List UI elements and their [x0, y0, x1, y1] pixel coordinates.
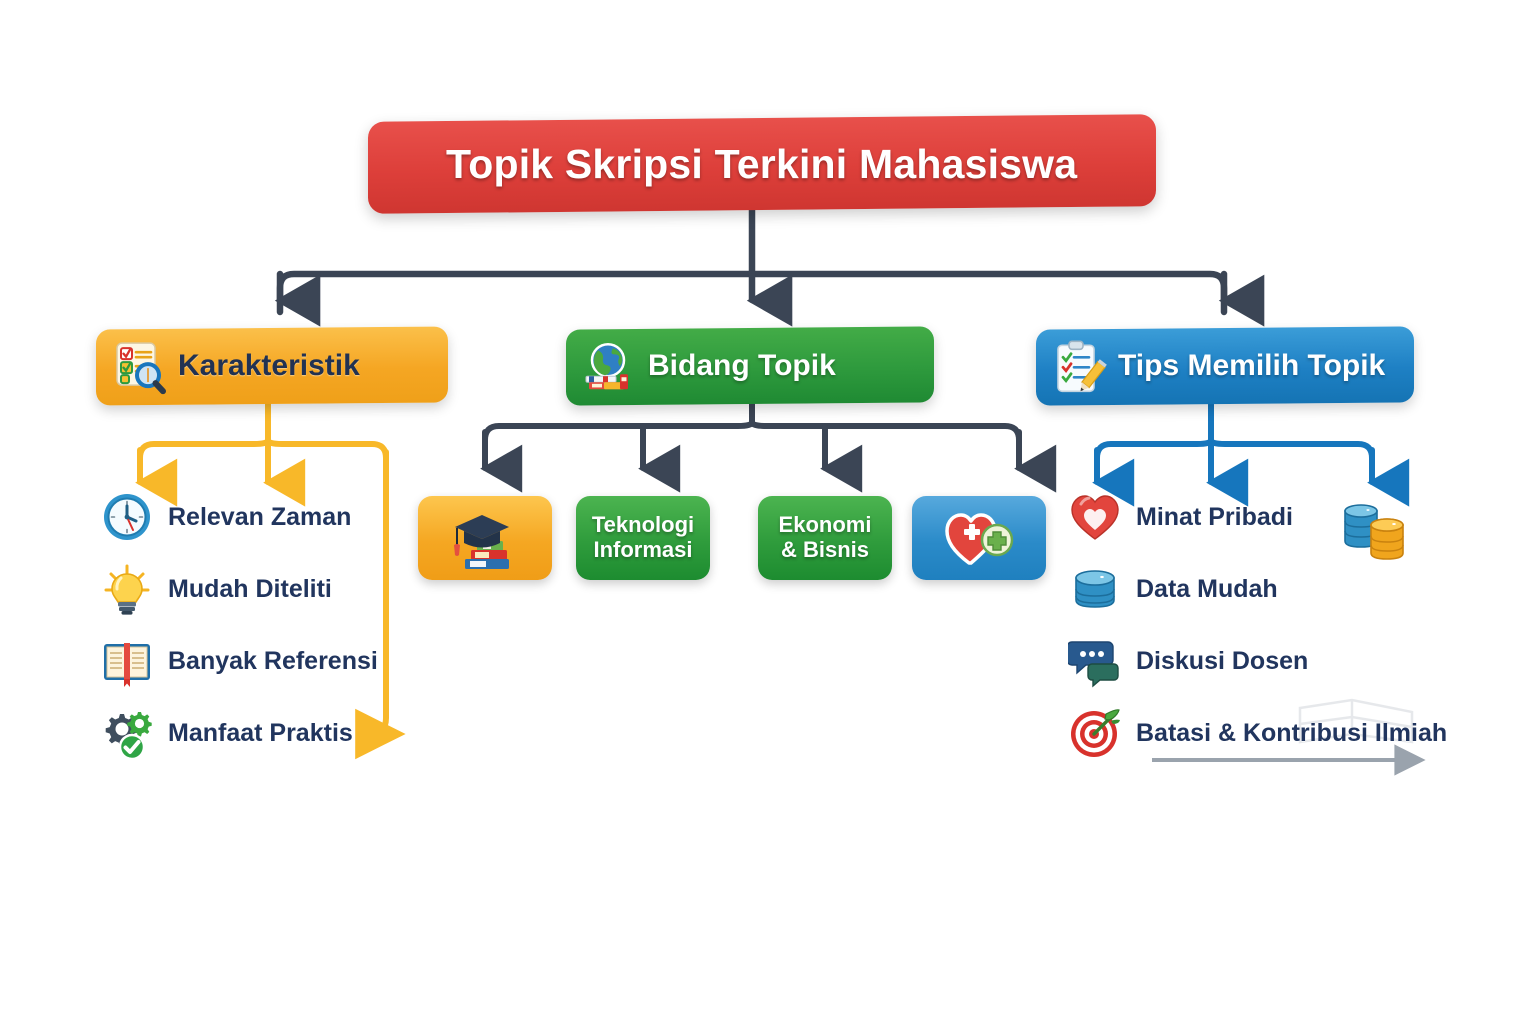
- tile-label-teknologi-informasi: TeknologiInformasi: [592, 513, 694, 562]
- open-book-icon: [100, 634, 154, 688]
- clock-icon: [100, 490, 154, 544]
- tile-ekonomi-bisnis[interactable]: Ekonomi& Bisnis: [758, 496, 892, 580]
- leaf-manfaat-praktis[interactable]: Manfaat Praktis: [100, 706, 353, 760]
- checklist-magnifier-icon: [110, 338, 168, 396]
- clipboard-pencil-icon: [1050, 338, 1108, 396]
- leaf-label-relevan-zaman: Relevan Zaman: [168, 503, 351, 532]
- leaf-data-mudah[interactable]: Data Mudah: [1068, 562, 1278, 616]
- leaf-label-data-mudah: Data Mudah: [1136, 575, 1278, 604]
- leaf-label-minat-pribadi: Minat Pribadi: [1136, 503, 1293, 532]
- branch-label-karakteristik: Karakteristik: [178, 349, 360, 383]
- infographic-canvas: Topik Skripsi Terkini Mahasiswa Karakter…: [0, 0, 1536, 1024]
- leaf-banyak-referensi[interactable]: Banyak Referensi: [100, 634, 378, 688]
- database-icon: [1068, 562, 1122, 616]
- tile-label-ekonomi-bisnis: Ekonomi& Bisnis: [779, 513, 872, 562]
- branch-node-karakteristik[interactable]: Karakteristik: [96, 326, 448, 405]
- heart-icon: [1068, 490, 1122, 544]
- root-node[interactable]: Topik Skripsi Terkini Mahasiswa: [368, 114, 1156, 214]
- target-dart-icon: [1068, 706, 1122, 760]
- leaf-label-manfaat-praktis: Manfaat Praktis: [168, 719, 353, 748]
- heart-medical-cross-icon: [943, 507, 1015, 569]
- speech-bubbles-icon: [1068, 634, 1122, 688]
- leaf-label-mudah-diteliti: Mudah Diteliti: [168, 575, 332, 604]
- branch-label-bidang-topik: Bidang Topik: [648, 349, 836, 383]
- tile-pendidikan[interactable]: [418, 496, 552, 580]
- leaf-diskusi-dosen[interactable]: Diskusi Dosen: [1068, 634, 1308, 688]
- leaf-batasi-kontribusi-ilmiah[interactable]: Batasi & Kontribusi Ilmiah: [1068, 706, 1447, 760]
- tile-teknologi-informasi[interactable]: TeknologiInformasi: [576, 496, 710, 580]
- globe-books-icon: [580, 338, 638, 396]
- leaf-label-diskusi-dosen: Diskusi Dosen: [1136, 647, 1308, 676]
- gears-check-icon: [100, 706, 154, 760]
- branch-node-bidang-topik[interactable]: Bidang Topik: [566, 326, 934, 405]
- leaf-relevan-zaman[interactable]: Relevan Zaman: [100, 490, 351, 544]
- graduation-books-icon: [449, 507, 521, 569]
- leaf-label-banyak-referensi: Banyak Referensi: [168, 647, 378, 676]
- database-stack-icon: [1341, 497, 1411, 563]
- branch-label-tips-memilih-topik: Tips Memilih Topik: [1118, 349, 1385, 383]
- leaf-label-batasi-kontribusi-ilmiah: Batasi & Kontribusi Ilmiah: [1136, 719, 1447, 748]
- leaf-mudah-diteliti[interactable]: Mudah Diteliti: [100, 562, 332, 616]
- page-title: Topik Skripsi Terkini Mahasiswa: [446, 141, 1077, 188]
- lightbulb-icon: [100, 562, 154, 616]
- tile-kesehatan[interactable]: [912, 496, 1046, 580]
- leaf-minat-pribadi[interactable]: Minat Pribadi: [1068, 490, 1293, 544]
- branch-node-tips-memilih-topik[interactable]: Tips Memilih Topik: [1036, 326, 1414, 405]
